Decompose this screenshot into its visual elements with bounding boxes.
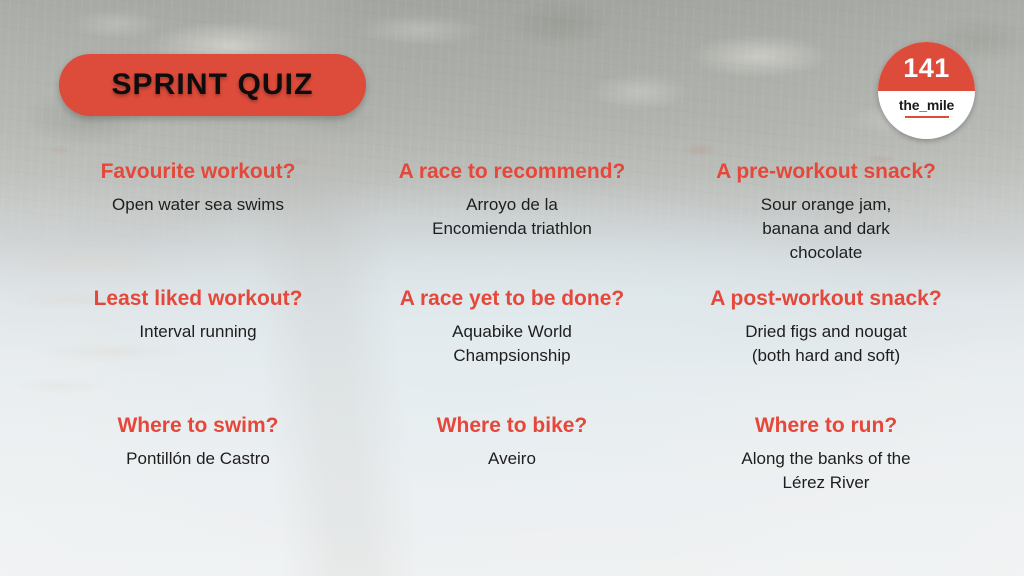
page-title: SPRINT QUIZ [111,68,313,102]
qa-item-where-to-swim: Where to swim? Pontillón de Castro [46,414,350,495]
badge-bottom-half: the_mile [878,91,975,140]
qa-item-favourite-workout: Favourite workout? Open water sea swims [46,160,350,287]
qa-question: Where to bike? [366,414,658,439]
badge-wordmark: the_mile [899,98,954,112]
badge-number: 141 [903,55,950,82]
qa-item-post-workout-snack: A post-workout snack? Dried figs and nou… [674,287,978,414]
qa-question: Where to swim? [52,414,344,439]
qa-item-race-to-recommend: A race to recommend? Arroyo de la Encomi… [360,160,664,287]
qa-question: A race to recommend? [366,160,658,185]
qa-item-pre-workout-snack: A pre-workout snack? Sour orange jam, ba… [674,160,978,287]
qa-question: A pre-workout snack? [680,160,972,185]
qa-answer: Dried figs and nougat (both hard and sof… [680,320,972,368]
qa-answer: Sour orange jam, banana and dark chocola… [680,193,972,265]
qa-grid: Favourite workout? Open water sea swims … [46,160,978,495]
qa-answer: Aveiro [366,447,658,471]
title-pill: SPRINT QUIZ [59,54,366,116]
qa-item-race-yet-to-be-done: A race yet to be done? Aquabike World Ch… [360,287,664,414]
badge-top-half: 141 [878,42,975,91]
qa-answer: Arroyo de la Encomienda triathlon [366,193,658,241]
brand-badge: 141 the_mile [878,42,975,139]
qa-question: Least liked workout? [52,287,344,312]
qa-answer: Open water sea swims [52,193,344,217]
qa-question: A race yet to be done? [366,287,658,312]
badge-underline [905,116,949,118]
quiz-slide: SPRINT QUIZ 141 the_mile Favourite worko… [0,0,1024,576]
qa-answer: Aquabike World Champsionship [366,320,658,368]
qa-answer: Along the banks of the Lérez River [680,447,972,495]
qa-item-where-to-run: Where to run? Along the banks of the Lér… [674,414,978,495]
qa-answer: Interval running [52,320,344,344]
qa-answer: Pontillón de Castro [52,447,344,471]
qa-item-least-liked-workout: Least liked workout? Interval running [46,287,350,414]
qa-question: A post-workout snack? [680,287,972,312]
qa-question: Where to run? [680,414,972,439]
qa-question: Favourite workout? [52,160,344,185]
qa-item-where-to-bike: Where to bike? Aveiro [360,414,664,495]
